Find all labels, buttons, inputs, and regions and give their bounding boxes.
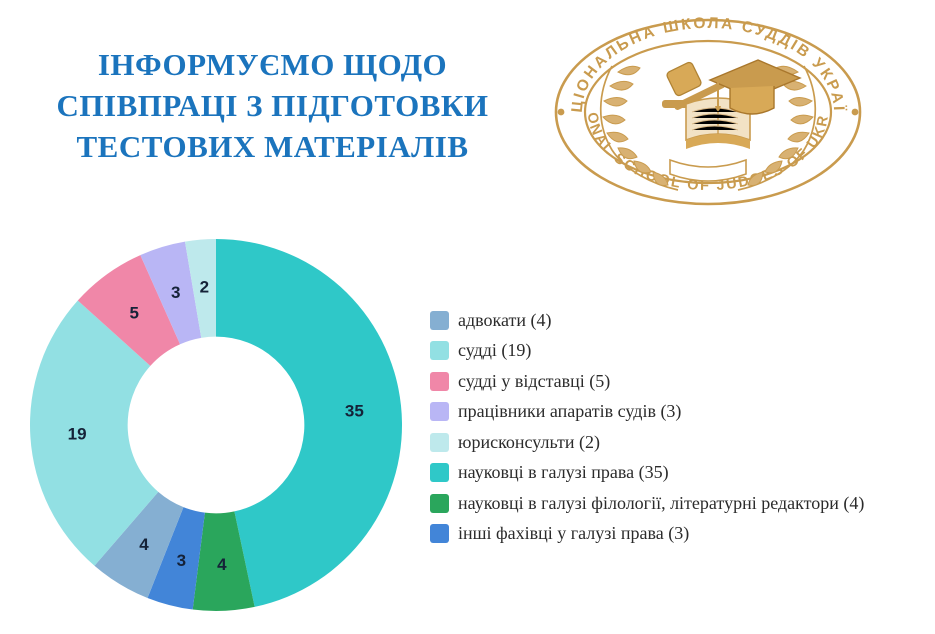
legend-item[interactable]: судді (19) <box>430 336 925 367</box>
legend-item[interactable]: адвокати (4) <box>430 305 925 336</box>
donut-slice-value-label: 4 <box>139 535 149 554</box>
page-title: ІНФОРМУЄМО ЩОДО СПІВПРАЦІ З ПІДГОТОВКИ Т… <box>0 44 545 167</box>
legend-item[interactable]: інші фахівці у галузі права (3) <box>430 519 925 550</box>
page-title-line-3: ТЕСТОВИХ МАТЕРІАЛІВ <box>0 126 545 167</box>
legend-label: адвокати (4) <box>458 310 552 331</box>
legend-color-swatch <box>430 433 449 452</box>
legend-color-swatch <box>430 524 449 543</box>
donut-chart: 3543419532 <box>28 237 404 613</box>
legend-color-swatch <box>430 341 449 360</box>
page-title-line-2: СПІВПРАЦІ З ПІДГОТОВКИ <box>0 85 545 126</box>
legend-item[interactable]: юрисконсульти (2) <box>430 427 925 458</box>
legend-label: судді (19) <box>458 340 531 361</box>
donut-slice[interactable] <box>216 239 402 607</box>
chart-legend: адвокати (4)судді (19)судді у відставці … <box>430 305 925 549</box>
page-title-line-1: ІНФОРМУЄМО ЩОДО <box>0 44 545 85</box>
legend-label: юрисконсульти (2) <box>458 432 600 453</box>
legend-label: науковці в галузі філології, літературні… <box>458 493 864 514</box>
donut-slice-value-label: 3 <box>177 551 186 570</box>
legend-color-swatch <box>430 494 449 513</box>
legend-color-swatch <box>430 402 449 421</box>
donut-slice-value-label: 19 <box>68 425 87 444</box>
donut-slice-value-label: 4 <box>217 555 227 574</box>
legend-color-swatch <box>430 372 449 391</box>
legend-item[interactable]: науковці в галузі права (35) <box>430 458 925 489</box>
legend-color-swatch <box>430 463 449 482</box>
ribbon-icon <box>670 160 746 181</box>
organization-logo: НАЦІОНАЛЬНА ШКОЛА СУДДІВ УКРАЇНИ NATIONA… <box>552 8 864 206</box>
legend-label: науковці в галузі права (35) <box>458 462 669 483</box>
donut-slice-value-label: 3 <box>171 283 180 302</box>
seal-dot-right <box>852 109 859 116</box>
legend-color-swatch <box>430 311 449 330</box>
legend-label: працівники апаратів судів (3) <box>458 401 681 422</box>
donut-slice-value-label: 5 <box>129 303 138 322</box>
seal-dot-left <box>558 109 565 116</box>
legend-item[interactable]: працівники апаратів судів (3) <box>430 397 925 428</box>
legend-item[interactable]: науковці в галузі філології, літературні… <box>430 488 925 519</box>
donut-slice-value-label: 2 <box>200 277 209 296</box>
legend-item[interactable]: судді у відставці (5) <box>430 366 925 397</box>
legend-label: судді у відставці (5) <box>458 371 610 392</box>
laurel-wreath-left-icon <box>601 66 678 190</box>
donut-slice-value-label: 35 <box>345 401 364 420</box>
legend-label: інші фахівці у галузі права (3) <box>458 523 689 544</box>
infographic-canvas: ІНФОРМУЄМО ЩОДО СПІВПРАЦІ З ПІДГОТОВКИ Т… <box>0 0 935 634</box>
donut-chart-svg: 3543419532 <box>28 237 404 613</box>
